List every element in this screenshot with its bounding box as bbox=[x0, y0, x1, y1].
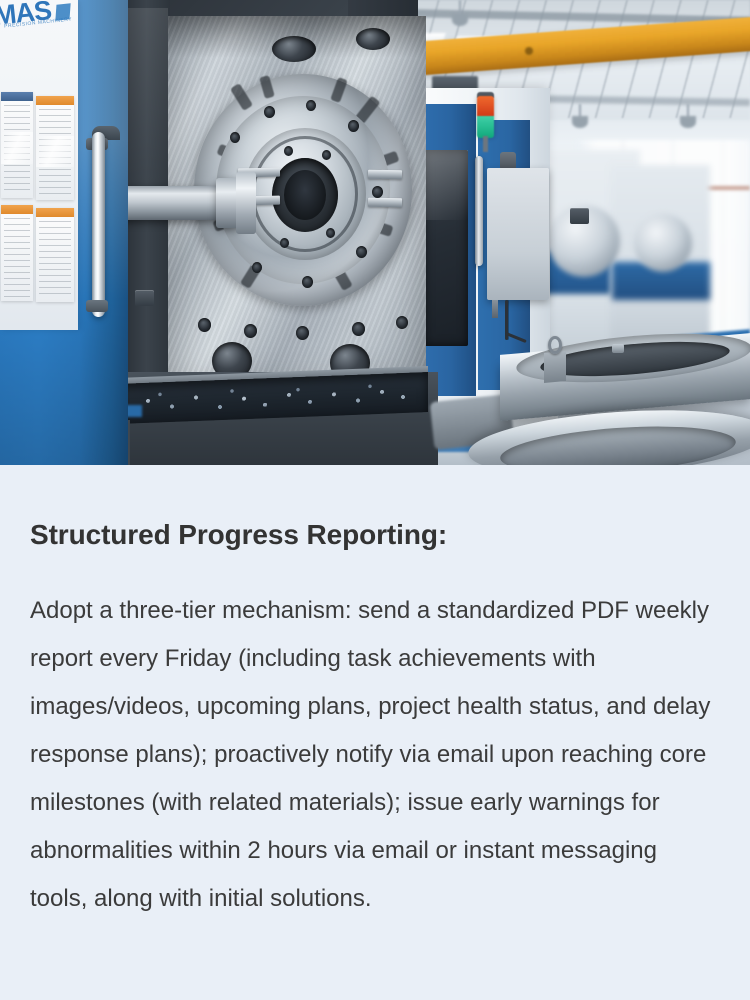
viewport-glare bbox=[424, 150, 468, 220]
document-header bbox=[36, 96, 74, 105]
mold-bolt-hole bbox=[306, 100, 316, 111]
mold-bolt-hole bbox=[356, 246, 367, 258]
mold-bolt-hole bbox=[396, 316, 408, 329]
mold-bolt-hole bbox=[198, 318, 211, 332]
ceiling-light-icon bbox=[452, 14, 468, 26]
mold-bolt-hole bbox=[284, 146, 293, 156]
stack-light-red bbox=[477, 96, 494, 116]
mold-bolt-hole bbox=[302, 276, 313, 288]
lifting-eyebolt-base bbox=[544, 351, 566, 383]
background-mold-disc bbox=[634, 214, 692, 272]
mold-bolt-hole bbox=[252, 262, 262, 273]
document-sleeve-glare bbox=[1, 132, 33, 164]
posted-document bbox=[1, 205, 33, 301]
document-text-lines bbox=[39, 221, 71, 299]
hero-image: MAS PRECISION MACHINERY bbox=[0, 0, 750, 465]
mold-center-bore-inner bbox=[284, 170, 326, 220]
posted-document bbox=[36, 208, 74, 302]
mold-bolt-hole bbox=[352, 322, 365, 336]
ceiling-light-icon bbox=[572, 116, 588, 128]
machine-stud-block bbox=[570, 208, 589, 224]
document-sleeve-glare bbox=[36, 136, 74, 167]
section-heading: Structured Progress Reporting: bbox=[30, 518, 720, 552]
page-root: MAS PRECISION MACHINERY bbox=[0, 0, 750, 1000]
mold-bolt-hole bbox=[244, 324, 257, 338]
spindle-collar bbox=[236, 172, 256, 234]
mold-bolt-hole bbox=[230, 132, 240, 143]
lifting-eyebolt-icon bbox=[548, 336, 562, 354]
document-header bbox=[1, 205, 33, 214]
posted-documents-panel: MAS PRECISION MACHINERY bbox=[0, 0, 78, 330]
machine-stud-block bbox=[135, 290, 154, 306]
mold-bolt-hole bbox=[326, 228, 335, 238]
section-paragraph: Adopt a three-tier mechanism: send a sta… bbox=[30, 587, 720, 923]
machine-door-handle-icon bbox=[475, 156, 483, 266]
mold-key-bar bbox=[368, 170, 402, 180]
door-handle-mount bbox=[86, 300, 108, 312]
posted-document bbox=[1, 92, 33, 198]
mold-bolt-hole bbox=[264, 106, 275, 118]
stack-light-icon bbox=[477, 96, 494, 138]
crane-bolt bbox=[525, 47, 533, 55]
stack-light-green bbox=[477, 116, 494, 138]
mold-large-bore bbox=[272, 36, 316, 62]
machine-door-handle-icon bbox=[92, 132, 105, 317]
mold-bolt-hole bbox=[280, 238, 289, 248]
cnc-control-pendant bbox=[487, 168, 549, 300]
mold-key-bar bbox=[368, 198, 402, 208]
mold-bolt-hole bbox=[348, 120, 359, 132]
mold-bolt-hole bbox=[372, 186, 383, 198]
content-section: Structured Progress Reporting: Adopt a t… bbox=[0, 465, 750, 1000]
posted-document bbox=[36, 96, 74, 200]
mold-bolt-hole bbox=[322, 150, 331, 160]
mold-bolt-hole bbox=[296, 326, 309, 340]
document-header bbox=[1, 92, 33, 101]
lifting-eyebolt-icon bbox=[612, 344, 624, 353]
document-text-lines bbox=[4, 218, 30, 298]
coolant-nozzle bbox=[492, 300, 498, 318]
document-header bbox=[36, 208, 74, 217]
stack-light-pole bbox=[483, 136, 488, 152]
ceiling-light-icon bbox=[680, 116, 696, 128]
mold-large-bore bbox=[356, 28, 390, 50]
manufacturer-logo: MAS PRECISION MACHINERY bbox=[0, 0, 78, 32]
